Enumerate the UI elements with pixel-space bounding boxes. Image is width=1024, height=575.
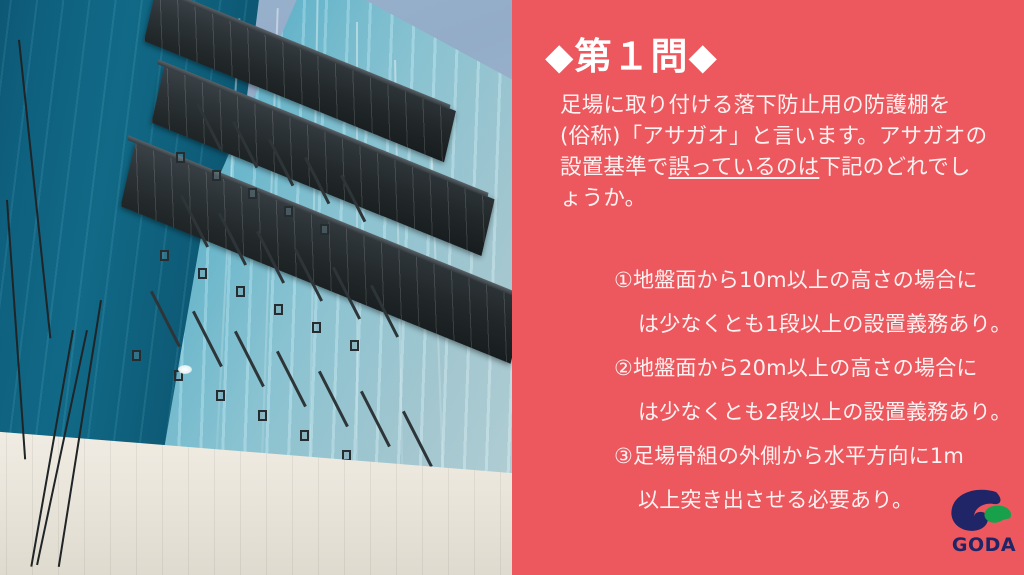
scaffold-bracket: [160, 250, 169, 261]
scaffold-bracket: [248, 188, 257, 199]
question-body-line-4: ょうか。: [560, 183, 1015, 214]
question-body: 足場に取り付ける落下防止用の防護棚を (俗称)「アサガオ」と言います。アサガオの…: [560, 90, 1015, 214]
scaffold-bracket: [132, 350, 141, 361]
scaffold-bracket: [284, 206, 293, 217]
question-body-line-3: 設置基準で誤っているのは下記のどれでし: [560, 152, 1015, 183]
scaffold-bracket: [320, 224, 329, 235]
option-2-line-2: は少なくとも2段以上の設置義務あり。: [614, 390, 1014, 434]
scaffold-bracket: [198, 268, 207, 279]
scaffold-bracket: [258, 410, 267, 421]
scaffold-bracket: [236, 286, 245, 297]
scaffold-bracket: [350, 340, 359, 351]
question-title: ◆第１問◆: [545, 26, 718, 80]
logo-green-leaf: [984, 506, 1011, 523]
body-line3-pre: 設置基準で: [560, 155, 669, 180]
scaffold-bracket: [342, 450, 351, 461]
option-1-line-1: ①地盤面から10m以上の高さの場合に: [614, 268, 978, 292]
slide: ◆第１問◆ 足場に取り付ける落下防止用の防護棚を (俗称)「アサガオ」と言います…: [0, 0, 1024, 575]
question-body-line-1: 足場に取り付ける落下防止用の防護棚を: [560, 90, 1015, 121]
scaffolding-photo: [0, 0, 512, 575]
scaffold-bracket: [176, 152, 185, 163]
answer-option-1[interactable]: ①地盤面から10m以上の高さの場合に は少なくとも1段以上の設置義務あり。: [614, 258, 1014, 346]
answer-options: ①地盤面から10m以上の高さの場合に は少なくとも1段以上の設置義務あり。 ②地…: [614, 258, 1014, 522]
work-light: [178, 365, 192, 374]
answer-option-2[interactable]: ②地盤面から20m以上の高さの場合に は少なくとも2段以上の設置義務あり。: [614, 346, 1014, 434]
scaffold-bracket: [300, 430, 309, 441]
scaffold-bracket: [312, 322, 321, 333]
body-line3-emphasis: 誤っているのは: [669, 155, 820, 180]
scaffold-bracket: [274, 304, 283, 315]
goda-logo-text: GODA: [948, 534, 1020, 556]
option-3-line-1: ③足場骨組の外側から水平方向に1m: [614, 444, 964, 468]
body-line3-post: 下記のどれでし: [819, 155, 970, 180]
option-1-line-2: は少なくとも1段以上の設置義務あり。: [614, 302, 1014, 346]
goda-logo-mark: [948, 486, 1020, 536]
scaffold-bracket: [212, 170, 221, 181]
goda-logo: GODA: [948, 486, 1020, 564]
question-body-line-2: (俗称)「アサガオ」と言います。アサガオの: [560, 121, 1015, 152]
option-2-line-1: ②地盤面から20m以上の高さの場合に: [614, 356, 978, 380]
scaffold-bracket: [216, 390, 225, 401]
